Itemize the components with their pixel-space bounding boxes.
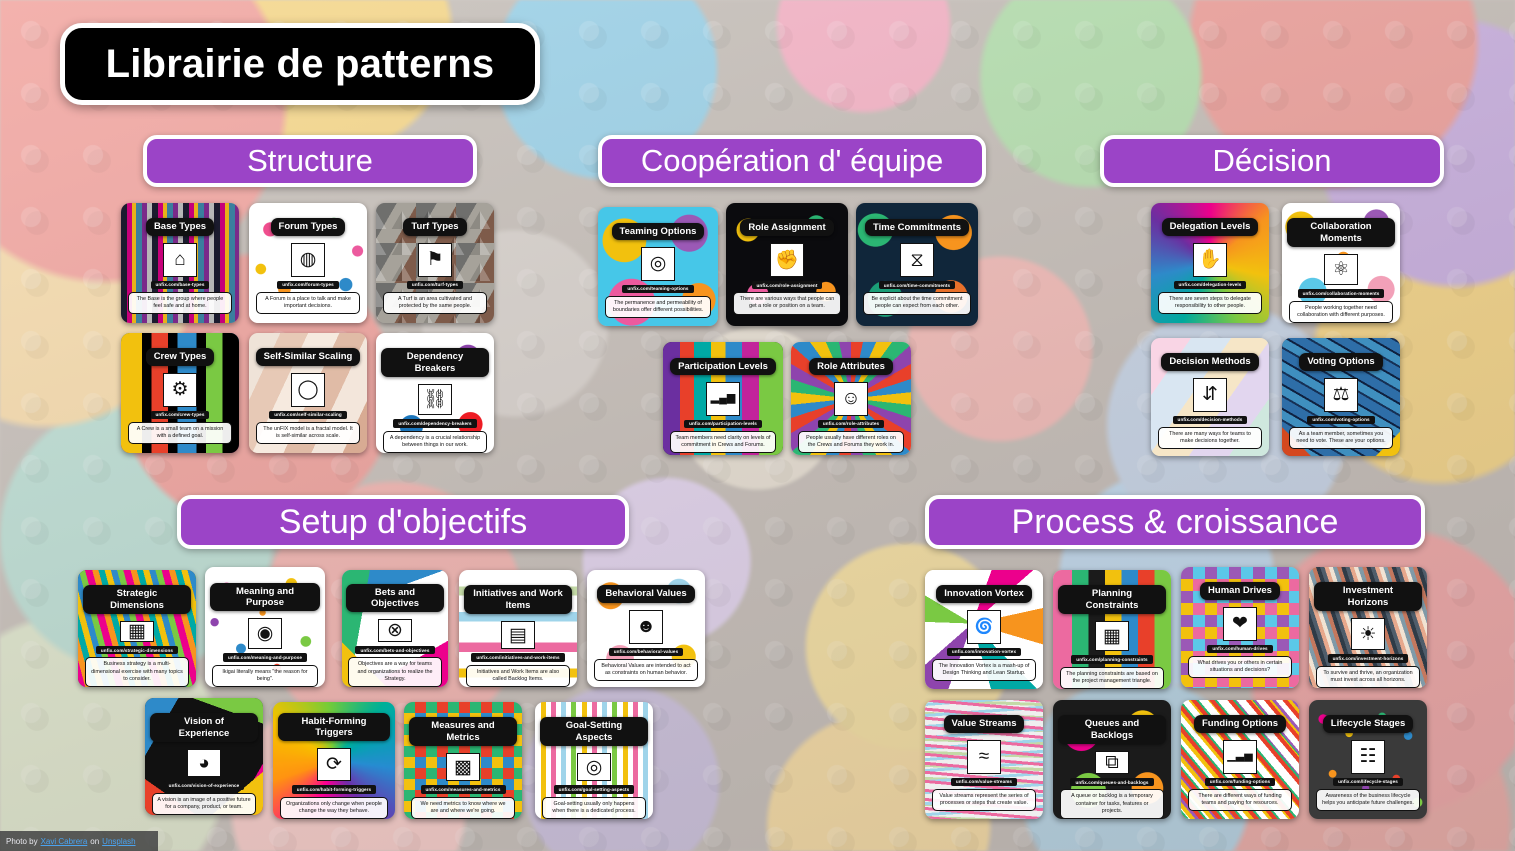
card-description: Objectives are a way for teams and organ… <box>348 657 441 687</box>
tornado-icon: 🌀 <box>967 610 1001 644</box>
pattern-card[interactable]: Self-Similar Scaling ◯ unfix.com/self-si… <box>249 333 367 453</box>
section-header-decision[interactable]: Décision <box>1100 135 1444 187</box>
target-list-icon: ◎ <box>577 753 611 782</box>
card-description: The permanence and permeability of bound… <box>605 296 711 318</box>
person-badge-icon: ☻ <box>629 610 663 644</box>
card-title: Time Commitments <box>865 219 969 236</box>
card-title: Teaming Options <box>612 223 705 240</box>
card-url: unfix.com/crew-types <box>151 411 210 419</box>
section-header-cooperation[interactable]: Coopération d' équipe <box>598 135 986 187</box>
pattern-card[interactable]: Voting Options ⚖ unfix.com/voting-option… <box>1282 338 1400 456</box>
card-description: There are many ways for teams to make de… <box>1158 427 1262 449</box>
card-title: Forum Types <box>271 218 346 235</box>
metrics-grid-icon: ▩ <box>446 753 480 782</box>
card-description: People working together need collaborati… <box>1289 301 1393 323</box>
pattern-card[interactable]: Role Assignment ✊ unfix.com/role-assignm… <box>726 203 848 326</box>
pattern-card[interactable]: Strategic Dimensions ▦ unfix.com/strateg… <box>78 570 196 687</box>
card-description: There are various ways that people can g… <box>733 292 840 314</box>
card-url: unfix.com/habit-forming-triggers <box>292 785 376 793</box>
pattern-card[interactable]: Time Commitments ⧖ unfix.com/time-commit… <box>856 203 978 326</box>
card-url: unfix.com/behavioral-values <box>609 648 683 656</box>
card-description: The Base is the group where people feel … <box>128 292 232 314</box>
stream-flow-icon: ≈ <box>967 740 1001 774</box>
card-url: unfix.com/meaning-and-purpose <box>223 653 307 661</box>
card-description: A Turf is an area cultivated and protect… <box>383 292 487 314</box>
flag-icon: ⚑ <box>418 243 452 277</box>
card-title: Initiatives and Work Items <box>464 585 573 613</box>
card-title: Role Attributes <box>809 358 893 375</box>
crystal-ball-icon: ◕ <box>187 749 221 778</box>
card-url: unfix.com/innovation-vortex <box>947 648 1021 656</box>
card-description: What drives you or others in certain sit… <box>1188 656 1292 678</box>
card-description: Goal-setting usually only happens when t… <box>542 797 646 819</box>
card-description: Business strategy is a multi-dimensional… <box>85 657 189 687</box>
pattern-card[interactable]: Turf Types ⚑ unfix.com/turf-types A Turf… <box>376 203 494 323</box>
card-title: Goal-Setting Aspects <box>540 717 649 745</box>
card-description: The planning constraints are based on th… <box>1060 667 1164 689</box>
card-url: unfix.com/strategic-dimensions <box>96 646 178 654</box>
pattern-card[interactable]: Teaming Options ◎ unfix.com/teaming-opti… <box>598 207 718 326</box>
card-title: Innovation Vortex <box>936 585 1032 602</box>
photo-credit-mid: on <box>90 837 99 846</box>
queue-people-icon: ⧉ <box>1095 751 1129 775</box>
card-url: unfix.com/bets-and-objectives <box>355 646 434 654</box>
motivation-network-icon: ❤ <box>1223 607 1257 641</box>
card-description: There are different ways of funding team… <box>1188 789 1292 811</box>
section-header-objectifs[interactable]: Setup d'objectifs <box>177 495 629 549</box>
card-url: unfix.com/decision-methods <box>1173 416 1248 424</box>
photo-credit-prefix: Photo by <box>6 837 38 846</box>
card-title: Lifecycle Stages <box>1323 715 1413 732</box>
hook-cycle-icon: ⟳ <box>317 748 351 781</box>
card-url: unfix.com/initiatives-and-work-items <box>471 653 564 661</box>
fist-icon: ✊ <box>770 243 804 277</box>
pattern-card[interactable]: Investment Horizons ☀ unfix.com/investme… <box>1309 567 1427 688</box>
pattern-card[interactable]: Role Attributes ☺ unfix.com/role-attribu… <box>791 342 911 455</box>
card-title: Turf Types <box>403 218 466 235</box>
growth-bars-icon: ▁▃▅ <box>1223 740 1257 774</box>
card-url: unfix.com/participation-levels <box>684 420 762 428</box>
card-url: unfix.com/time-commitments <box>879 281 955 289</box>
card-url: unfix.com/base-types <box>151 281 210 289</box>
card-url: unfix.com/goal-setting-aspects <box>554 785 635 793</box>
card-title: Delegation Levels <box>1162 218 1259 235</box>
slide-canvas: Librairie de patterns Structure Coopérat… <box>0 0 1515 851</box>
sphere-grid-icon: ◯ <box>291 373 325 407</box>
card-url: unfix.com/delegation-levels <box>1174 281 1247 289</box>
card-description: A Crew is a small team on a mission with… <box>128 422 232 444</box>
card-title: Habit-Forming Triggers <box>278 713 390 741</box>
ikigai-circles-icon: ◉ <box>248 618 282 649</box>
card-title: Crew Types <box>146 348 215 365</box>
section-header-decision-label: Décision <box>1213 143 1332 179</box>
broken-chain-icon: ⛓ <box>418 384 452 416</box>
card-title: Queues and Backlogs <box>1058 715 1167 743</box>
section-header-process[interactable]: Process & croissance <box>925 495 1425 549</box>
card-title: Vision of Experience <box>150 713 259 741</box>
card-url: unfix.com/vision-of-experience <box>164 781 245 789</box>
card-title: Human Drives <box>1200 582 1280 599</box>
target-globe-icon: ⊗ <box>378 619 412 642</box>
card-url: unfix.com/self-similar-scaling <box>269 411 347 419</box>
page-title-text: Librairie de patterns <box>106 42 495 87</box>
pattern-card[interactable]: Forum Types ◍ unfix.com/forum-types A Fo… <box>249 203 367 323</box>
pattern-card[interactable]: Planning Constraints ▦ unfix.com/plannin… <box>1053 570 1171 689</box>
card-description: A vision is an image of a positive futur… <box>152 793 256 815</box>
card-url: unfix.com/teaming-options <box>622 285 693 293</box>
dashed-circle-icon: ◎ <box>641 247 675 281</box>
pattern-card[interactable]: Collaboration Moments ⚛ unfix.com/collab… <box>1282 203 1400 323</box>
card-title: Voting Options <box>1299 353 1382 370</box>
card-description: Be explicit about the time commitment pe… <box>863 292 970 314</box>
two-voters-icon: ⚖ <box>1324 378 1358 412</box>
card-title: Strategic Dimensions <box>83 585 192 613</box>
pattern-card[interactable]: Goal-Setting Aspects ◎ unfix.com/goal-se… <box>535 702 653 819</box>
easel-chart-icon: ▦ <box>120 621 154 643</box>
card-title: Collaboration Moments <box>1287 218 1396 246</box>
section-header-process-label: Process & croissance <box>1012 503 1339 542</box>
face-icon: ☺ <box>834 382 868 416</box>
card-url: unfix.com/planning-constraints <box>1071 655 1152 663</box>
pattern-card[interactable]: Participation Levels ▂▄▆ unfix.com/parti… <box>663 342 783 455</box>
card-description: Behavioral Values are intended to act as… <box>594 659 698 681</box>
card-url: unfix.com/role-assignment <box>752 281 823 289</box>
pattern-card[interactable]: Habit-Forming Triggers ⟳ unfix.com/habit… <box>273 702 395 819</box>
card-description: Organizations only change when people ch… <box>280 797 387 819</box>
pattern-card[interactable]: Delegation Levels ✋ unfix.com/delegation… <box>1151 203 1269 323</box>
card-description: Initiatives and Work Items are also call… <box>466 665 570 687</box>
gears-cluster-icon: ⚛ <box>1324 254 1358 286</box>
card-title: Behavioral Values <box>597 585 694 602</box>
card-url: unfix.com/turf-types <box>407 281 463 289</box>
card-description: Awareness of the business lifecycle help… <box>1316 789 1420 811</box>
card-title: Funding Options <box>1194 715 1286 732</box>
card-description: To survive and thrive, an organization m… <box>1316 666 1420 688</box>
card-title: Planning Constraints <box>1058 585 1167 613</box>
pattern-card[interactable]: Funding Options ▁▃▅ unfix.com/funding-op… <box>1181 700 1299 819</box>
card-url: unfix.com/investment-horizons <box>1328 654 1409 662</box>
pattern-card[interactable]: Queues and Backlogs ⧉ unfix.com/queues-a… <box>1053 700 1171 819</box>
card-description: Team members need clarity on levels of c… <box>670 431 776 453</box>
handover-icon: ✋ <box>1193 243 1227 277</box>
card-title: Measures and Metrics <box>409 717 518 745</box>
pattern-card[interactable]: Crew Types ⚙ unfix.com/crew-types A Crew… <box>121 333 239 453</box>
card-description: Value streams represent the series of pr… <box>932 789 1036 811</box>
section-header-structure-label: Structure <box>247 143 373 179</box>
page-title: Librairie de patterns <box>60 23 540 105</box>
card-title: Meaning and Purpose <box>210 583 320 611</box>
lifecycle-people-icon: ☷ <box>1351 740 1385 774</box>
pattern-card[interactable]: Bets and Objectives ⊗ unfix.com/bets-and… <box>342 570 448 687</box>
hourglass-icon: ⧖ <box>900 243 934 277</box>
card-title: Self-Similar Scaling <box>256 348 361 365</box>
photo-credit: Photo by Xavi Cabrera on Unsplash <box>0 831 158 851</box>
card-title: Participation Levels <box>670 358 776 375</box>
card-title: Value Streams <box>944 715 1025 732</box>
photo-credit-author-link[interactable]: Xavi Cabrera <box>41 837 88 846</box>
card-url: unfix.com/forum-types <box>277 281 339 289</box>
pattern-card[interactable]: Human Drives ❤ unfix.com/human-drives Wh… <box>1181 567 1299 688</box>
card-url: unfix.com/human-drives <box>1207 645 1272 653</box>
pattern-card[interactable]: Innovation Vortex 🌀 unfix.com/innovation… <box>925 570 1043 689</box>
bar-chart-icon: ▂▄▆ <box>706 382 740 416</box>
card-url: unfix.com/value-streams <box>951 778 1017 786</box>
card-url: unfix.com/lifecycle-stages <box>1333 778 1403 786</box>
pattern-card[interactable]: Initiatives and Work Items ▤ unfix.com/i… <box>459 570 577 687</box>
card-url: unfix.com/voting-options <box>1307 416 1374 424</box>
card-description: The Innovation Vortex is a mash-up of De… <box>932 659 1036 681</box>
card-url: unfix.com/queues-and-backlogs <box>1070 778 1153 786</box>
card-description: There are seven steps to delegate respon… <box>1158 292 1262 314</box>
card-description: A Forum is a place to talk and make impo… <box>256 292 360 314</box>
card-description: We need metrics to know where we are and… <box>411 797 515 819</box>
section-header-structure[interactable]: Structure <box>143 135 477 187</box>
team-nodes-icon: ⚙ <box>163 373 197 407</box>
card-description: Ikigai literally means "the reason for b… <box>212 665 318 687</box>
card-description: People usually have different roles on t… <box>798 431 904 453</box>
card-description: The unFIX model is a fractal model. It i… <box>256 422 360 444</box>
card-url: unfix.com/collaboration-moments <box>1298 289 1385 297</box>
house-people-icon: ⌂ <box>163 243 197 277</box>
pattern-card[interactable]: Value Streams ≈ unfix.com/value-streams … <box>925 700 1043 819</box>
planning-board-icon: ▦ <box>1095 621 1129 652</box>
brick-wall-icon: ▤ <box>501 621 535 650</box>
pattern-card[interactable]: Dependency Breakers ⛓ unfix.com/dependen… <box>376 333 494 453</box>
pattern-card[interactable]: Base Types ⌂ unfix.com/base-types The Ba… <box>121 203 239 323</box>
card-title: Role Assignment <box>740 219 833 236</box>
pattern-card[interactable]: Vision of Experience ◕ unfix.com/vision-… <box>145 698 263 815</box>
card-description: As a team member, sometimes you need to … <box>1289 427 1393 449</box>
card-title: Bets and Objectives <box>346 584 444 612</box>
card-url: unfix.com/funding-options <box>1205 778 1275 786</box>
card-title: Base Types <box>146 218 214 235</box>
card-url: unfix.com/role-attributes <box>818 420 884 428</box>
arrow-crossroads-icon: ⇵ <box>1193 378 1227 412</box>
card-title: Decision Methods <box>1161 353 1258 370</box>
pattern-card[interactable]: Behavioral Values ☻ unfix.com/behavioral… <box>587 570 705 687</box>
globe-chat-icon: ◍ <box>291 243 325 277</box>
card-title: Investment Horizons <box>1314 582 1423 610</box>
sunrise-icon: ☀ <box>1351 618 1385 651</box>
pattern-card[interactable]: Lifecycle Stages ☷ unfix.com/lifecycle-s… <box>1309 700 1427 819</box>
pattern-card[interactable]: Measures and Metrics ▩ unfix.com/measure… <box>404 702 522 819</box>
card-url: unfix.com/measures-and-metrics <box>421 785 506 793</box>
card-url: unfix.com/dependency-breakers <box>393 419 476 427</box>
section-header-cooperation-label: Coopération d' équipe <box>641 143 943 179</box>
card-description: A queue or backlog is a temporary contai… <box>1060 789 1164 819</box>
pattern-card[interactable]: Decision Methods ⇵ unfix.com/decision-me… <box>1151 338 1269 456</box>
card-description: A dependency is a crucial relationship b… <box>383 431 487 453</box>
pattern-card[interactable]: Meaning and Purpose ◉ unfix.com/meaning-… <box>205 567 325 687</box>
section-header-objectifs-label: Setup d'objectifs <box>279 503 527 542</box>
card-title: Dependency Breakers <box>381 348 490 376</box>
photo-credit-source-link[interactable]: Unsplash <box>102 837 135 846</box>
